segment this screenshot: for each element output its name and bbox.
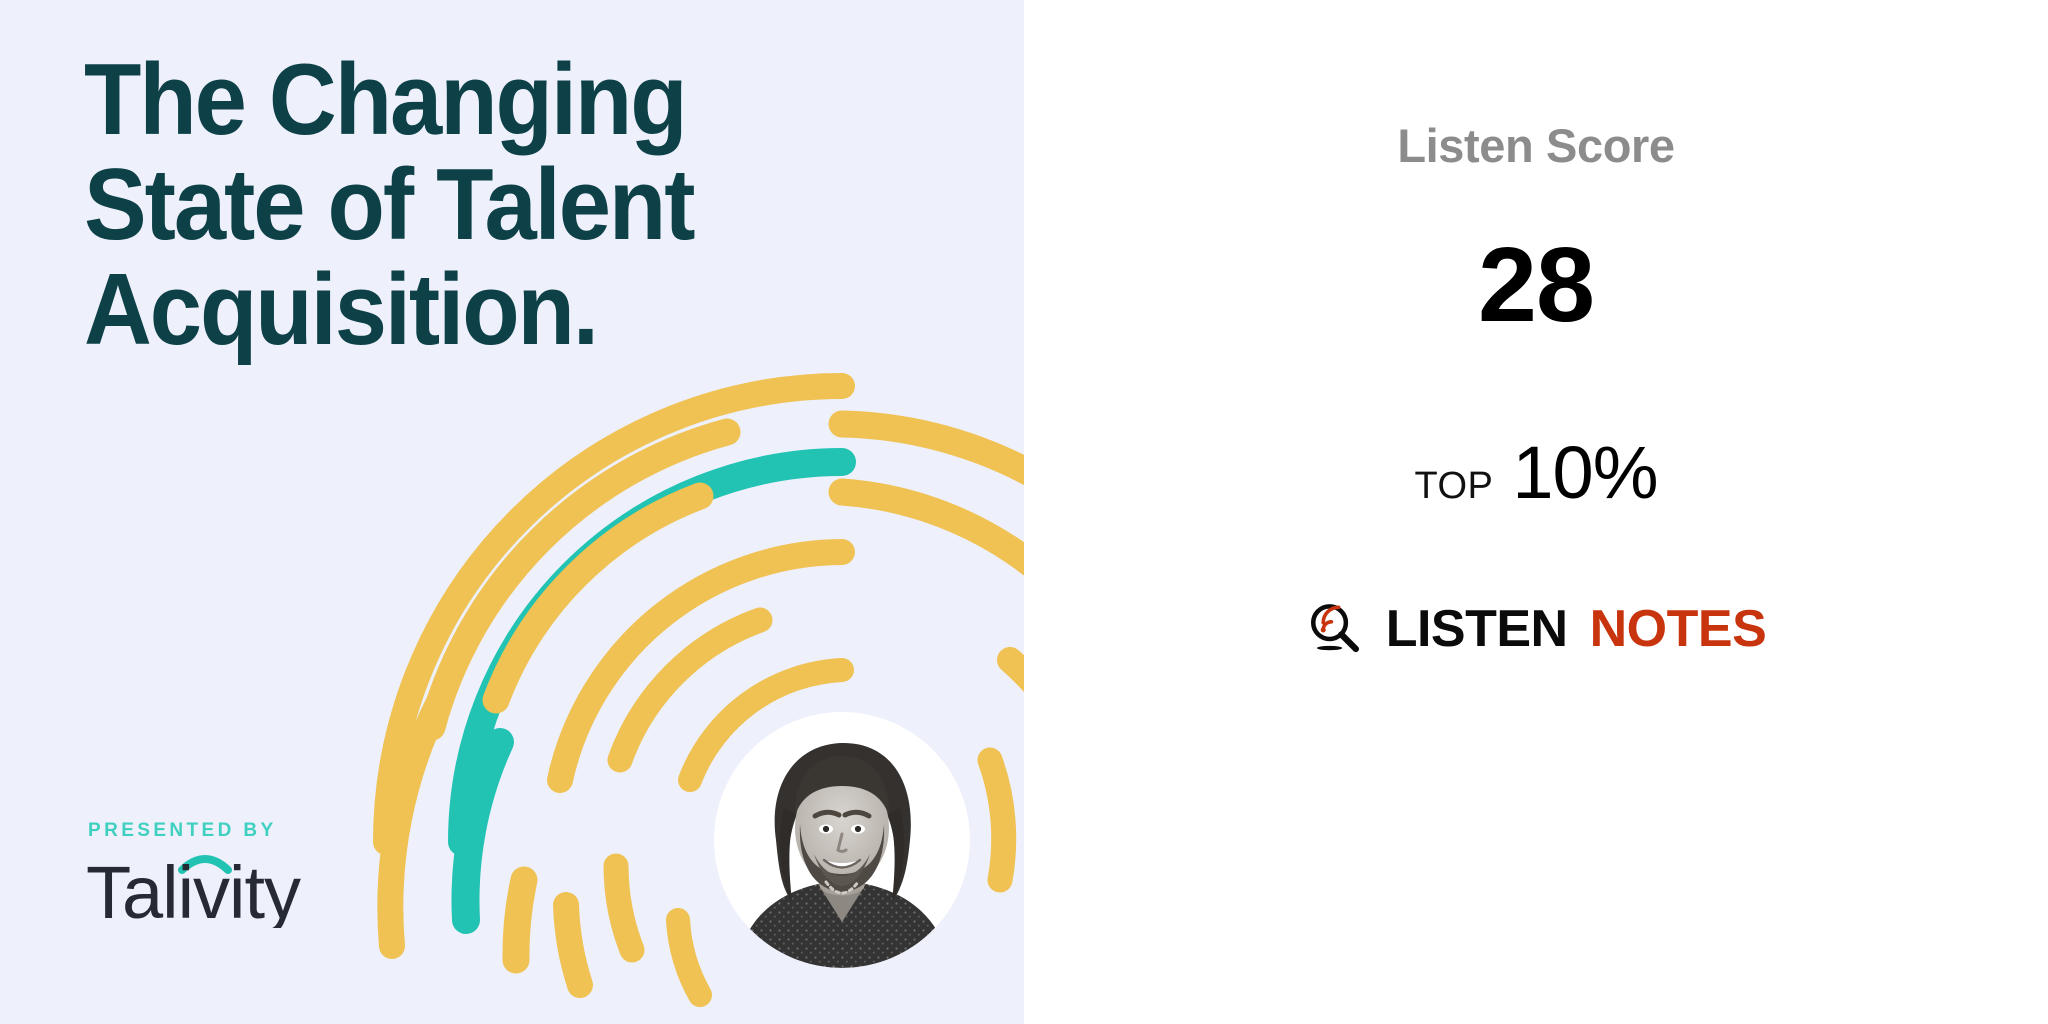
presented-by-lockup: PRESENTED BY Talivity	[86, 820, 321, 928]
listen-score-label: Listen Score	[1024, 118, 2048, 173]
page-title: The Changing State of Talent Acquisition…	[84, 48, 847, 363]
listen-notes-magnifier-icon	[1306, 600, 1364, 658]
listen-notes-word-notes: NOTES	[1590, 603, 1767, 655]
presented-by-label: PRESENTED BY	[88, 820, 321, 842]
talivity-wordmark-icon: Talivity	[86, 850, 321, 928]
listen-score-value: 28	[1024, 232, 2048, 338]
podcast-artwork-panel: The Changing State of Talent Acquisition…	[0, 0, 1024, 1024]
svg-text:Talivity: Talivity	[86, 851, 301, 928]
host-portrait-illustration	[714, 712, 970, 968]
talivity-logo: Talivity	[86, 850, 321, 928]
host-portrait	[714, 712, 970, 968]
listen-score-card: The Changing State of Talent Acquisition…	[0, 0, 2048, 1024]
rank-row: TOP 10%	[1024, 430, 2048, 515]
rank-percentile-value: 10%	[1512, 430, 1657, 515]
listen-score-panel: Listen Score 28 TOP 10% LISTEN NOTES	[1024, 0, 2048, 1024]
rank-prefix-label: TOP	[1414, 465, 1493, 508]
listen-notes-logo[interactable]: LISTEN NOTES	[1024, 600, 2048, 658]
listen-notes-word-listen: LISTEN	[1386, 603, 1568, 655]
